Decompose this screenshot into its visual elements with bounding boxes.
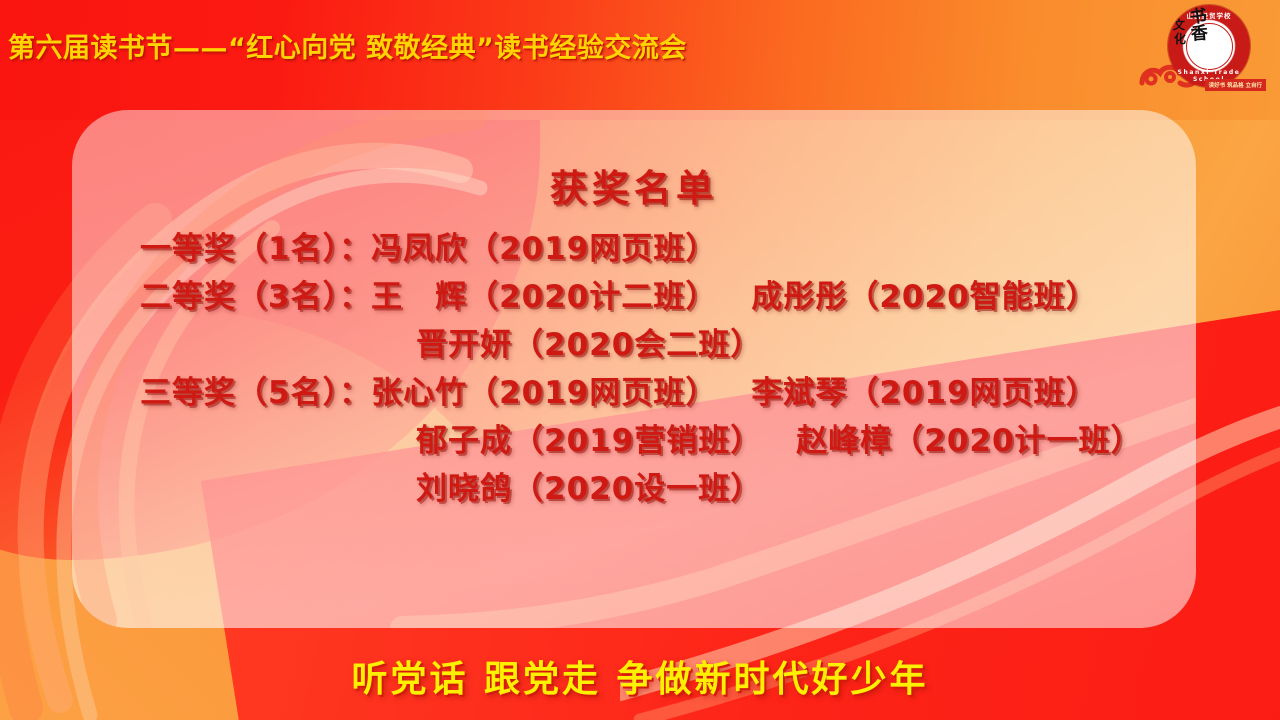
- footer-slogan: 听党话 跟党走 争做新时代好少年: [0, 650, 1280, 702]
- award-rank-label: 三等奖（5名）：: [140, 375, 371, 411]
- winner-name: 赵峰樟: [796, 423, 892, 459]
- award-list: 一等奖（1名）：冯凤欣（2019网页班）二等奖（3名）：王 辉（2020计二班）…: [106, 234, 1162, 505]
- award-row: 刘晓鸽（2020设一班）: [140, 474, 1162, 505]
- winner-class: （2020会二班）: [512, 327, 762, 363]
- winner-class: （2020计一班）: [892, 423, 1142, 459]
- award-rank-label: 二等奖（3名）：: [140, 279, 371, 315]
- award-row: 一等奖（1名）：冯凤欣（2019网页班）: [140, 234, 1162, 265]
- page-title: 第六届读书节——“红心向党 致敬经典”读书经验交流会: [8, 26, 687, 65]
- slide-canvas: 第六届读书节——“红心向党 致敬经典”读书经验交流会 山西经贸学校 书 香 文 …: [0, 0, 1280, 720]
- award-row: 郁子成（2019营销班）赵峰樟（2020计一班）: [140, 426, 1162, 457]
- winner-class: （2019网页班）: [467, 375, 717, 411]
- winner-class: （2019网页班）: [467, 231, 717, 267]
- winner-name: 郁子成: [416, 423, 512, 459]
- award-list-heading: 获奖名单: [106, 158, 1162, 212]
- seal-char-hua: 化: [1174, 33, 1186, 46]
- seal-emblem-icon: 山西经贸学校 书 香 文 化 Shanxi Trade School: [1168, 5, 1250, 87]
- content-panel: 获奖名单 一等奖（1名）：冯凤欣（2019网页班）二等奖（3名）：王 辉（202…: [72, 110, 1196, 628]
- winner-name: 王 辉: [371, 279, 467, 315]
- school-logo: 山西经贸学校 书 香 文 化 Shanxi Trade School 读好书 筑…: [1146, 3, 1258, 95]
- winner-class: （2020计二班）: [467, 279, 717, 315]
- seal-char-wen: 文: [1173, 19, 1185, 32]
- winner-name: 成彤彤: [751, 279, 847, 315]
- winner-class: （2019营销班）: [512, 423, 762, 459]
- winner-name: 李斌琴: [751, 375, 847, 411]
- award-rank-label: 一等奖（1名）：: [140, 231, 371, 267]
- winner-name: 张心竹: [371, 375, 467, 411]
- logo-tagline: 读好书 筑品格 立自行: [1205, 79, 1266, 91]
- slide-header: 第六届读书节——“红心向党 致敬经典”读书经验交流会: [0, 0, 1280, 104]
- award-row: 三等奖（5名）：张心竹（2019网页班）李斌琴（2019网页班）: [140, 378, 1162, 409]
- winner-name: 冯凤欣: [371, 231, 467, 267]
- winner-class: （2020智能班）: [847, 279, 1097, 315]
- winner-class: （2019网页班）: [847, 375, 1097, 411]
- winner-name: 晋开妍: [416, 327, 512, 363]
- award-row: 二等奖（3名）：王 辉（2020计二班）成彤彤（2020智能班）: [140, 282, 1162, 313]
- winner-name: 刘晓鸽: [416, 471, 512, 507]
- seal-char-xiang: 香: [1190, 25, 1208, 44]
- award-row: 晋开妍（2020会二班）: [140, 330, 1162, 361]
- winner-class: （2020设一班）: [512, 471, 762, 507]
